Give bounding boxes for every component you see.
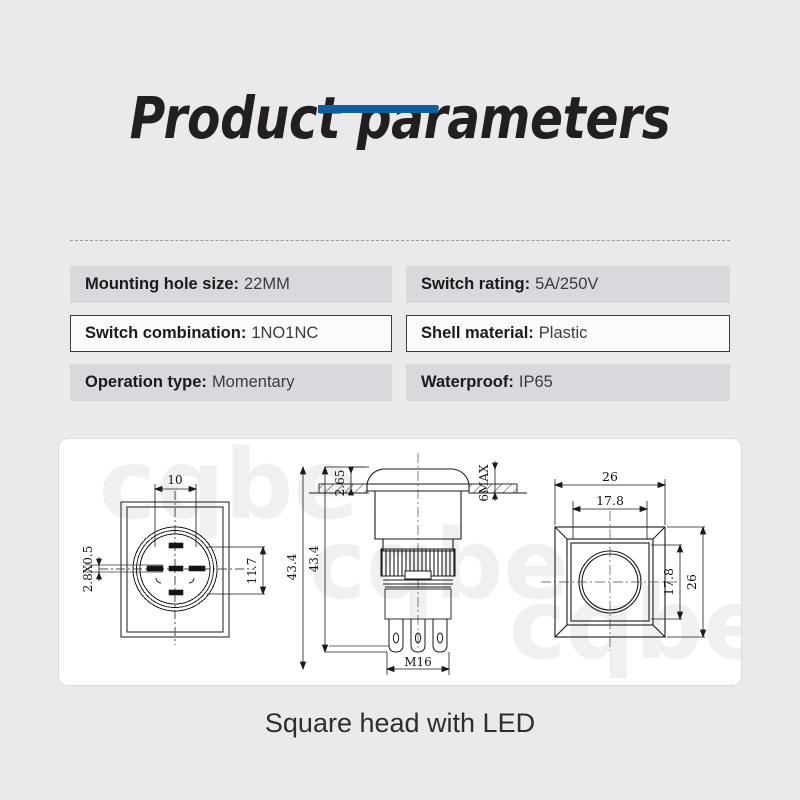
spec-row-switch-combination: Switch combination: 1NO1NC bbox=[70, 315, 392, 352]
spec-label: Operation type: bbox=[85, 373, 207, 392]
spec-value: IP65 bbox=[519, 373, 553, 392]
section-divider bbox=[70, 240, 730, 241]
spec-row-switch-rating: Switch rating: 5A/250V bbox=[406, 266, 730, 303]
spec-row-shell-material: Shell material: Plastic bbox=[406, 315, 730, 352]
spec-table: Mounting hole size: 22MM Switch combinat… bbox=[70, 266, 730, 401]
svg-text:43.4: 43.4 bbox=[309, 545, 321, 572]
svg-text:26: 26 bbox=[602, 469, 618, 484]
svg-text:11.7: 11.7 bbox=[245, 558, 259, 585]
spec-label: Switch combination: bbox=[85, 324, 246, 343]
svg-text:10: 10 bbox=[167, 473, 182, 487]
spec-label: Switch rating: bbox=[421, 275, 530, 294]
svg-text:17.8: 17.8 bbox=[596, 493, 624, 508]
spec-row-mounting-hole-size: Mounting hole size: 22MM bbox=[70, 266, 392, 303]
spec-value: Momentary bbox=[212, 373, 295, 392]
title-block: Product parameters bbox=[0, 86, 800, 150]
technical-drawing-panel: cqbe cqbe cqbe bbox=[58, 438, 742, 686]
page-title: Product parameters bbox=[64, 86, 736, 150]
spec-row-operation-type: Operation type: Momentary bbox=[70, 364, 392, 401]
spec-column-right: Switch rating: 5A/250V Shell material: P… bbox=[406, 266, 730, 401]
svg-text:6MAX: 6MAX bbox=[477, 464, 491, 502]
spec-value: 5A/250V bbox=[535, 275, 598, 294]
spec-row-waterproof: Waterproof: IP65 bbox=[406, 364, 730, 401]
product-parameters-page: Product parameters Mounting hole size: 2… bbox=[0, 0, 800, 800]
spec-value: 1NO1NC bbox=[251, 324, 318, 343]
svg-text:17.8: 17.8 bbox=[661, 568, 676, 596]
svg-text:2.8X0.5: 2.8X0.5 bbox=[81, 546, 95, 593]
title-accent-bar bbox=[318, 105, 438, 113]
svg-text:26: 26 bbox=[684, 574, 699, 590]
spec-column-left: Mounting hole size: 22MM Switch combinat… bbox=[70, 266, 392, 401]
spec-label: Shell material: bbox=[421, 324, 534, 343]
drawing-side-elevation-view: 2.65 43.4 6MAX bbox=[309, 439, 527, 686]
spec-label: Mounting hole size: bbox=[85, 275, 239, 294]
svg-text:M16: M16 bbox=[404, 655, 432, 669]
drawing-caption: Square head with LED bbox=[0, 708, 800, 739]
svg-text:43.4: 43.4 bbox=[285, 553, 299, 580]
svg-text:2.65: 2.65 bbox=[333, 470, 347, 497]
spec-label: Waterproof: bbox=[421, 373, 514, 392]
spec-value: 22MM bbox=[244, 275, 290, 294]
drawing-terminal-bottom-view: 10 2.8X0.5 11.7 bbox=[59, 439, 309, 686]
spec-value: Plastic bbox=[539, 324, 588, 343]
drawing-square-head-top-view: 26 17.8 17.8 bbox=[527, 439, 742, 686]
